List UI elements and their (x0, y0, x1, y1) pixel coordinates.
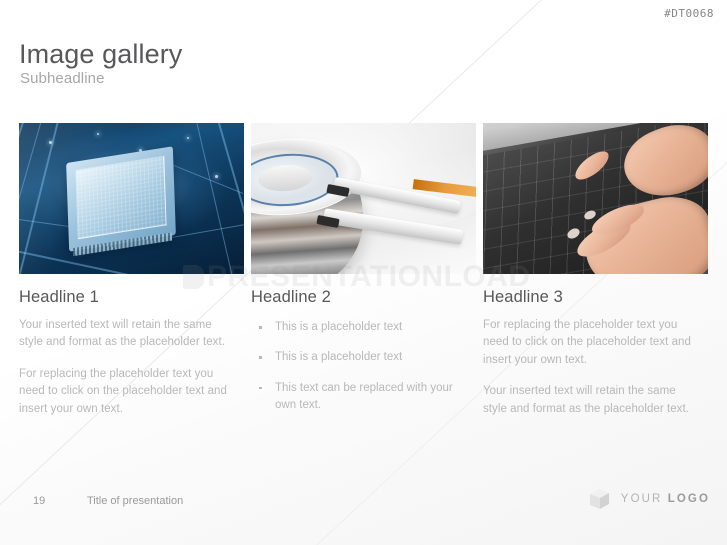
hard-disk-drive-photo[interactable] (251, 123, 476, 274)
list-item: This text can be replaced with your own … (251, 380, 466, 415)
column-3-paragraph-1: For replacing the placeholder text you n… (483, 317, 698, 369)
gallery-column-3: Headline 3 For replacing the placeholder… (483, 123, 708, 274)
column-1-headline: Headline 1 (19, 288, 99, 307)
logo-text: YOUR LOGO (621, 493, 710, 505)
column-1-body: Your inserted text will retain the same … (19, 317, 234, 432)
logo-placeholder[interactable]: YOUR LOGO (586, 486, 710, 512)
column-1-paragraph-2: For replacing the placeholder text you n… (19, 366, 234, 418)
column-3-paragraph-2: Your inserted text will retain the same … (483, 383, 698, 418)
gallery-column-2: Headline 2 This is a placeholder text Th… (251, 123, 476, 274)
column-1-paragraph-1: Your inserted text will retain the same … (19, 317, 234, 352)
slide-canvas: #DT0068 Image gallery Subheadline (0, 0, 727, 545)
column-3-headline: Headline 3 (483, 288, 563, 307)
hdd-platter-stack-shape (251, 136, 368, 274)
column-2-headline: Headline 2 (251, 288, 331, 307)
logo-word-1: YOUR (621, 493, 663, 505)
column-2-bullet-list: This is a placeholder text This is a pla… (251, 319, 466, 414)
cpu-chip-shape (66, 146, 176, 252)
circuit-board-image-body (19, 123, 244, 274)
logo-word-2: LOGO (668, 493, 710, 505)
column-2-body: This is a placeholder text This is a pla… (251, 317, 466, 427)
cube-icon (586, 486, 612, 512)
circuit-board-cpu-photo[interactable] (19, 123, 244, 274)
column-3-body: For replacing the placeholder text you n… (483, 317, 698, 432)
gallery-columns: Headline 1 Your inserted text will retai… (0, 0, 727, 545)
slide-number: 19 (33, 495, 45, 507)
hard-disk-image-body (251, 123, 476, 274)
keyboard-image-body (483, 123, 708, 274)
keyboard-typing-hands-photo[interactable] (483, 123, 708, 274)
gallery-column-1: Headline 1 Your inserted text will retai… (19, 123, 244, 274)
list-item: This is a placeholder text (251, 319, 466, 336)
footer-presentation-title: Title of presentation (87, 495, 183, 507)
list-item: This is a placeholder text (251, 349, 466, 366)
